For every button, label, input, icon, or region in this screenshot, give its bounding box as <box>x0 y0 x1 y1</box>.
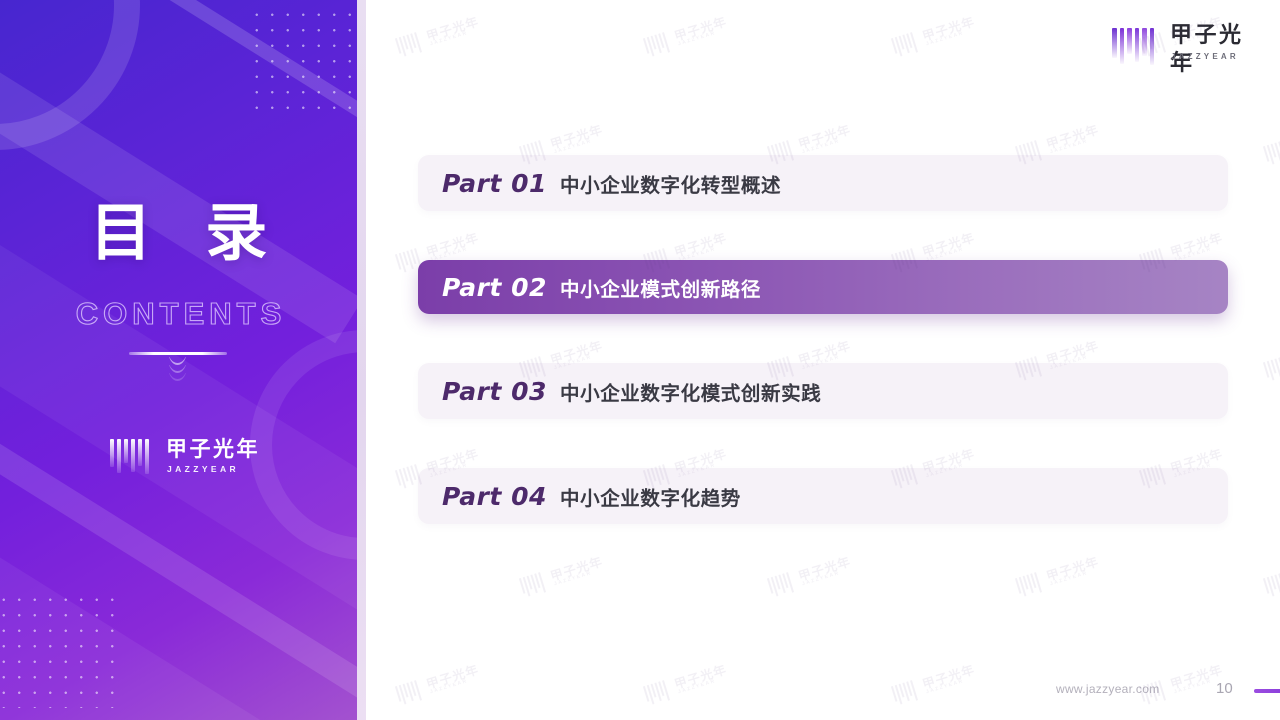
toc-item-part-01[interactable]: Part 01 中小企业数字化转型概述 <box>418 155 1228 211</box>
panel-edge-strip <box>357 0 366 720</box>
brand-name-en: JAZZYEAR <box>1171 52 1239 61</box>
toc-item-part-04[interactable]: Part 04 中小企业数字化趋势 <box>418 468 1228 524</box>
toc-part-title: 中小企业数字化转型概述 <box>560 169 781 198</box>
toc-part-label: Part 01 <box>442 169 560 198</box>
footer-page-number: 10 <box>1216 680 1233 697</box>
chevron-down-icon <box>164 373 192 382</box>
toc-part-title: 中小企业数字化模式创新实践 <box>560 377 821 406</box>
brand-name-en: JAZZYEAR <box>167 464 239 474</box>
logo-bars-icon <box>110 439 156 475</box>
toc-part-label: Part 03 <box>442 377 560 406</box>
title-divider <box>129 352 227 355</box>
slide-root: 目 录 CONTENTS 甲子光年 JAZZYEAR <box>0 0 1280 720</box>
header-brand-logo: 甲子光年 JAZZYEAR <box>1112 24 1252 72</box>
toc-item-part-03[interactable]: Part 03 中小企业数字化模式创新实践 <box>418 363 1228 419</box>
footer-accent-bar <box>1254 689 1280 693</box>
brand-name-cn: 甲子光年 <box>166 437 260 462</box>
main-content: 甲子光年 JAZZYEAR Part 01 中小企业数字化转型概述 Part 0… <box>366 0 1280 720</box>
toc-part-title: 中小企业模式创新路径 <box>560 273 761 302</box>
page-title: 目 录 <box>0 202 357 264</box>
footer-website: www.jazzyear.com <box>1056 682 1160 696</box>
decorative-ring <box>0 0 140 150</box>
logo-bars-icon <box>1112 28 1158 66</box>
brand-name-cn: 甲子光年 <box>1170 22 1252 78</box>
table-of-contents: Part 01 中小企业数字化转型概述 Part 02 中小企业模式创新路径 P… <box>418 155 1228 573</box>
toc-part-label: Part 02 <box>442 273 560 302</box>
dot-grid-pattern <box>0 592 114 708</box>
toc-part-title: 中小企业数字化趋势 <box>560 482 741 511</box>
left-decorative-panel: 目 录 CONTENTS 甲子光年 JAZZYEAR <box>0 0 357 720</box>
toc-part-label: Part 04 <box>442 482 560 511</box>
page-subtitle: CONTENTS <box>0 298 357 329</box>
panel-brand-logo: 甲子光年 JAZZYEAR <box>110 437 270 483</box>
dot-grid-pattern <box>249 7 357 121</box>
toc-item-part-02[interactable]: Part 02 中小企业模式创新路径 <box>418 260 1228 314</box>
